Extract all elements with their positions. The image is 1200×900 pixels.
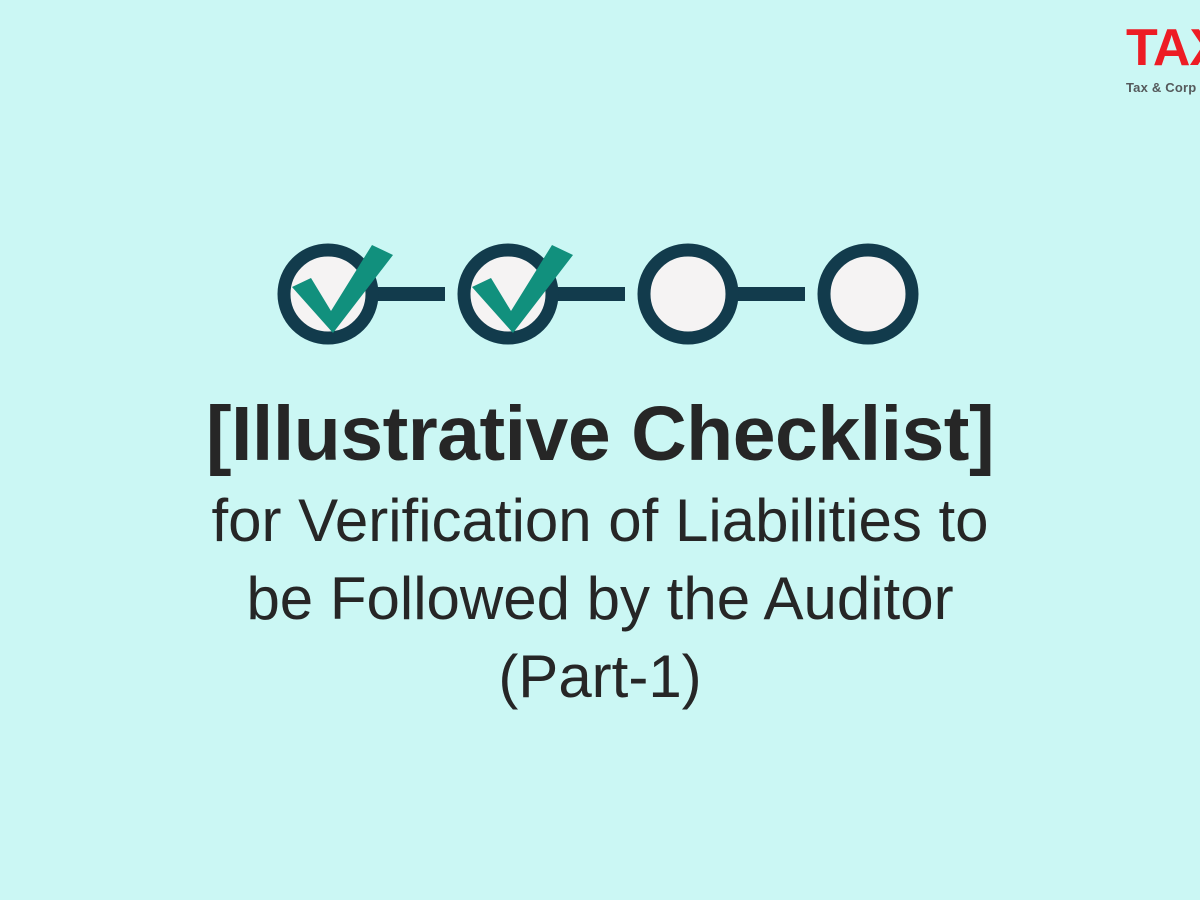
brand-logo-wordmark: TAX (1126, 22, 1200, 74)
step-4-circle (824, 250, 912, 338)
checklist-progress-graphic (265, 225, 935, 365)
checklist-step-2 (464, 245, 573, 338)
checklist-step-1 (284, 245, 393, 338)
brand-logo-tagline: Tax & Corp (1126, 81, 1200, 94)
headline-block: [Illustrative Checklist] for Verificatio… (0, 392, 1200, 716)
step-connectors (365, 287, 805, 301)
subtitle-line-1: for Verification of Liabilities to (0, 482, 1200, 560)
page-title: [Illustrative Checklist] (0, 392, 1200, 476)
brand-logo: TAX Tax & Corp (1126, 22, 1200, 94)
checklist-step-4 (824, 250, 912, 338)
checklist-step-3 (644, 250, 732, 338)
subtitle-line-2: be Followed by the Auditor (0, 560, 1200, 638)
subtitle-line-3: (Part-1) (0, 638, 1200, 716)
step-3-circle (644, 250, 732, 338)
poster-canvas: TAX Tax & Corp (0, 0, 1200, 900)
